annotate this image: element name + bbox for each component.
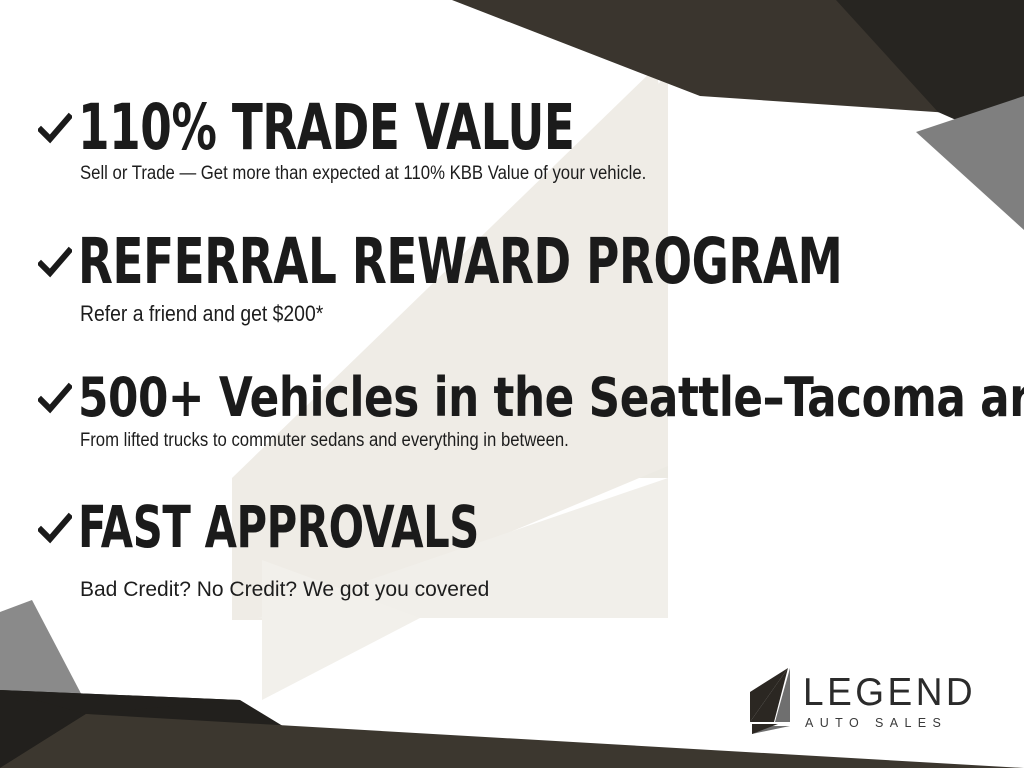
- feature-headline: FAST APPROVALS: [38, 500, 579, 556]
- feature-item-inventory: 500+ Vehicles in the Seattle–Tacoma area…: [38, 372, 1024, 452]
- promo-banner: 110% TRADE VALUE Sell or Trade — Get mor…: [0, 0, 1024, 768]
- brand-logo: LEGEND AUTO SALES: [748, 666, 976, 734]
- feature-item-approvals: FAST APPROVALS Bad Credit? No Credit? We…: [38, 500, 579, 602]
- feature-title: 500+ Vehicles in the Seattle–Tacoma area: [78, 372, 1024, 424]
- feature-subtitle: Sell or Trade — Get more than expected a…: [80, 163, 724, 185]
- feature-headline: 500+ Vehicles in the Seattle–Tacoma area: [38, 372, 1024, 424]
- check-icon: [38, 111, 72, 145]
- logo-name: LEGEND: [803, 672, 976, 711]
- feature-title: REFERRAL REWARD PROGRAM: [78, 232, 842, 292]
- feature-subtitle: From lifted trucks to commuter sedans an…: [80, 430, 1024, 452]
- feature-item-referral: REFERRAL REWARD PROGRAM Refer a friend a…: [38, 232, 1024, 327]
- feature-title: 110% TRADE VALUE: [78, 98, 574, 158]
- feature-headline: 110% TRADE VALUE: [38, 98, 724, 158]
- check-icon: [38, 381, 72, 415]
- check-icon: [38, 245, 72, 279]
- feature-subtitle: Bad Credit? No Credit? We got you covere…: [80, 578, 579, 602]
- check-icon: [38, 511, 72, 545]
- legend-chevron-mark-icon: [748, 666, 792, 734]
- feature-title: FAST APPROVALS: [78, 500, 479, 556]
- feature-headline: REFERRAL REWARD PROGRAM: [38, 232, 1024, 292]
- feature-list: 110% TRADE VALUE Sell or Trade — Get mor…: [0, 0, 1024, 768]
- feature-subtitle: Refer a friend and get $200*: [80, 301, 1024, 327]
- logo-tagline: AUTO SALES: [805, 717, 976, 730]
- feature-item-trade-value: 110% TRADE VALUE Sell or Trade — Get mor…: [38, 98, 724, 185]
- logo-wordmark: LEGEND AUTO SALES: [803, 671, 976, 730]
